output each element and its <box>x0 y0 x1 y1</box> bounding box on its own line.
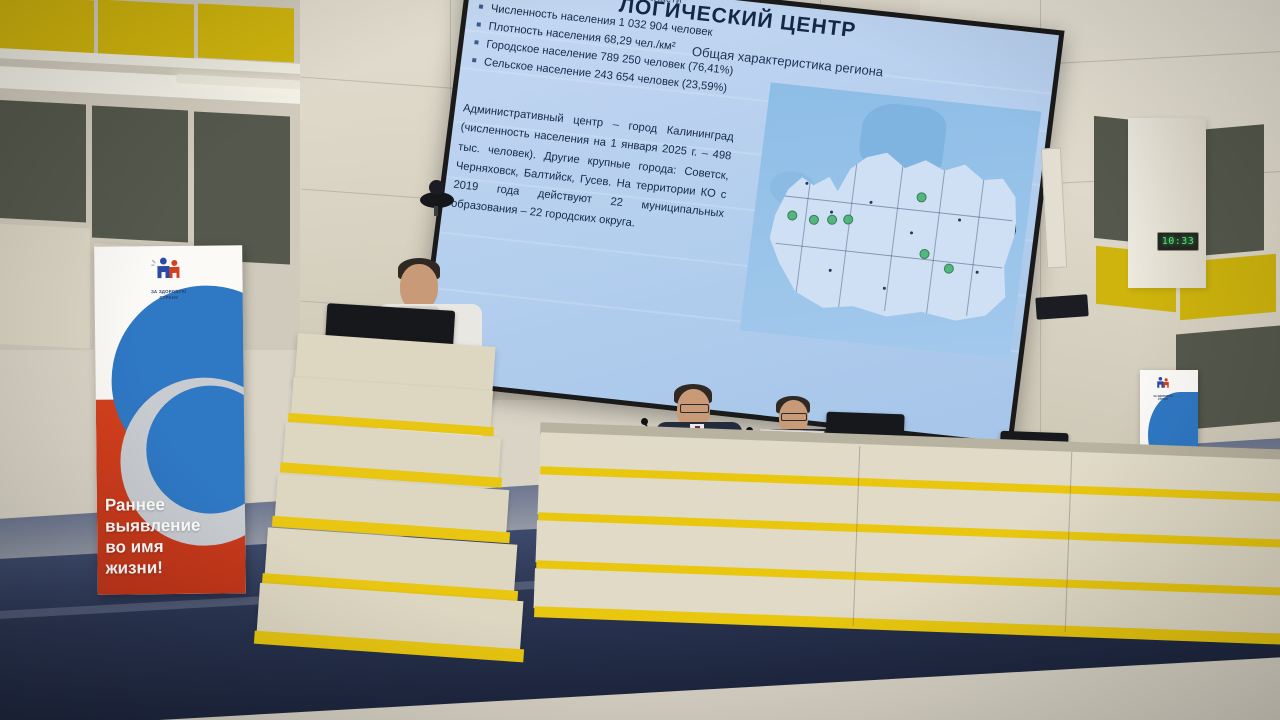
ptz-camera-icon <box>420 180 454 214</box>
projection-screen: алининградской области ЛОГИЧЕСКИЙ ЦЕНТР … <box>421 0 1059 442</box>
headline-line-1: Раннее <box>105 493 237 515</box>
digital-clock: 10:33 <box>1157 232 1199 251</box>
conference-hall-photo: 10:33 алининградской области ЛОГИЧЕСКИЙ … <box>0 0 1280 720</box>
corner-column <box>1128 118 1206 288</box>
map-marker <box>943 263 954 274</box>
banner-right-logo: ЗА ЗДОРОВУЮ СТРАНУ <box>1150 376 1176 402</box>
headline-line-4: жизни! <box>105 556 237 578</box>
logo-line-2: СТРАНУ <box>1150 398 1176 401</box>
glasses-icon <box>680 404 709 413</box>
map-marker <box>787 210 798 221</box>
map-marker <box>826 214 837 225</box>
banner-logo-text: ЗА ЗДОРОВУЮ СТРАНУ <box>124 289 214 302</box>
slide-paragraph: Административный центр – город Калинингр… <box>450 99 735 243</box>
banner-logo: ЗА ЗДОРОВУЮ СТРАНУ <box>123 256 213 302</box>
microphone-head <box>641 418 648 425</box>
headline-line-2: выявление <box>105 514 237 536</box>
headline-line-3: во имя <box>105 535 237 557</box>
region-map <box>739 82 1041 359</box>
map-marker <box>808 214 819 225</box>
map-marker <box>843 214 854 225</box>
map-marker <box>919 248 930 259</box>
rollup-banner-left: ЗА ЗДОРОВУЮ СТРАНУ Раннее выявление во и… <box>94 245 246 595</box>
projection-screen-frame: алининградской области ЛОГИЧЕСКИЙ ЦЕНТР … <box>415 0 1064 447</box>
map-marker <box>916 192 927 203</box>
presentation-slide: алининградской области ЛОГИЧЕСКИЙ ЦЕНТР … <box>421 0 1059 442</box>
glasses-icon <box>781 413 807 421</box>
two-people-logo-icon <box>1152 376 1174 390</box>
logo-line-2: СТРАНУ <box>124 294 214 301</box>
banner-headline: Раннее выявление во имя жизни! <box>105 493 238 579</box>
wall-monitor-dark <box>1035 294 1088 320</box>
two-people-logo-icon <box>147 256 189 282</box>
clock-time-display: 10:33 <box>1162 236 1195 247</box>
